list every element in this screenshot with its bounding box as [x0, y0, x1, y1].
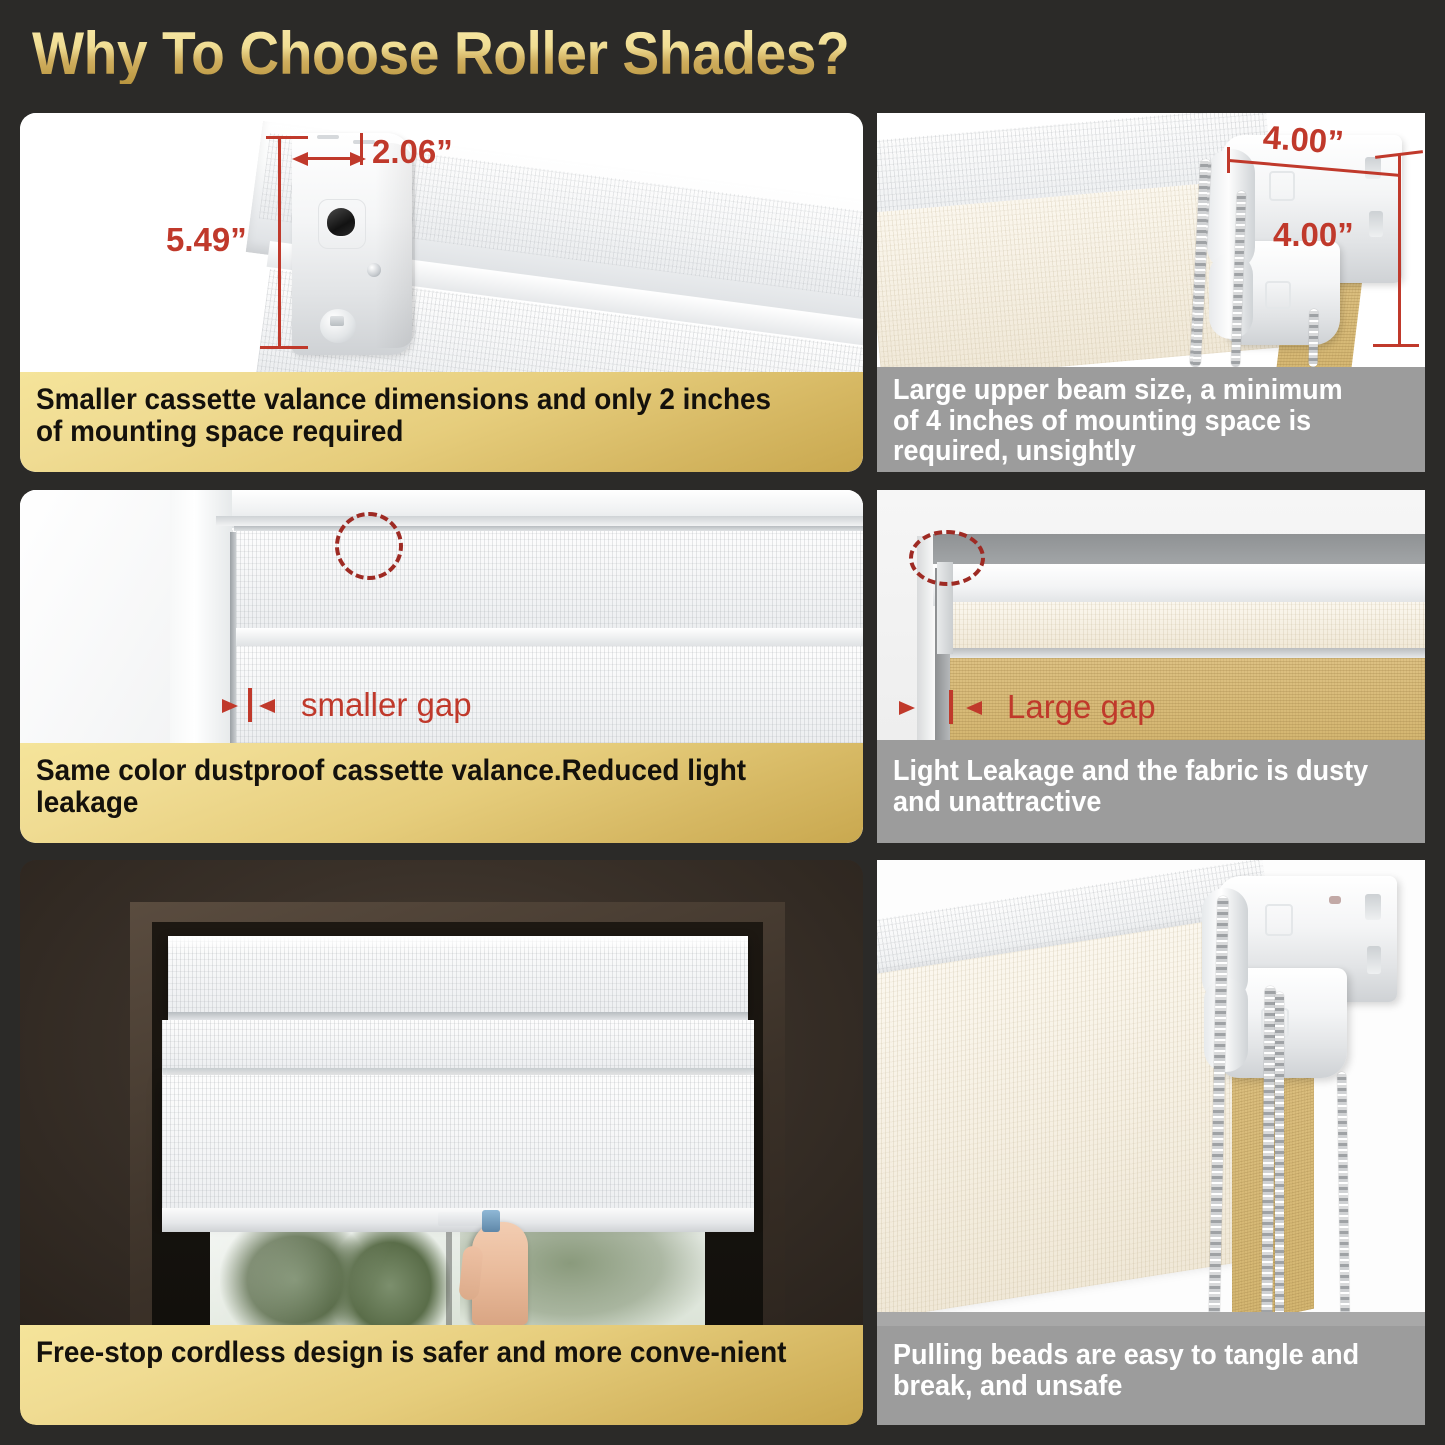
window-frame-bevel: [216, 516, 863, 526]
roller-tube: [933, 564, 1425, 606]
height-dim-label: 5.49”: [166, 223, 247, 256]
gap-callout-label: smaller gap: [301, 688, 472, 721]
end-cap-port-ring: [318, 199, 366, 249]
bracket-slot-b: [1367, 946, 1381, 974]
shade-fabric-main: [162, 1075, 754, 1215]
panel-1-caption-text: Smaller cassette valance dimensions and …: [36, 384, 790, 448]
panel-2-caption-text: Large upper beam size, a minimum of 4 in…: [893, 375, 1373, 467]
panel-1-cassette-dimensions: 2.06” 5.49” Smaller cassette valance dim…: [20, 113, 863, 472]
bracket-screw-hole: [1329, 896, 1341, 904]
beam-height-tick-bottom: [1373, 344, 1419, 347]
beam-height-dim-line: [1398, 155, 1401, 347]
panel-5-caption: Free-stop cordless design is safer and m…: [20, 1325, 863, 1425]
gap-marker-line: [248, 688, 252, 722]
height-dim-tick-top: [266, 136, 308, 139]
end-cap-shadow: [375, 143, 415, 348]
panel-3-dustproof-valance: smaller gap Same color dustproof cassett…: [20, 490, 863, 843]
panel-4-light-leakage: Large gap Light Leakage and the fabric i…: [877, 490, 1425, 843]
upper-beam-dark: [933, 534, 1425, 566]
panel-4-photo: Large gap: [877, 490, 1425, 740]
cream-fabric-band: [935, 602, 1425, 650]
panel-6-photo: [877, 860, 1425, 1326]
bracket-emboss-lower: [1265, 281, 1291, 309]
cassette-valance-lip: [232, 628, 863, 646]
panel-6-caption-text: Pulling beads are easy to tangle and bre…: [893, 1340, 1373, 1401]
height-dim-line: [278, 136, 281, 349]
panel-4-caption-text: Light Leakage and the fabric is dusty an…: [893, 756, 1373, 817]
bead-chain-rear: [1337, 1072, 1350, 1326]
base-floor-strip: [877, 1312, 1425, 1326]
width-dim-arrow-right: [350, 152, 366, 166]
hand-grip-tool: [482, 1210, 500, 1232]
panel-3-caption-text: Same color dustproof cassette valance.Re…: [36, 755, 790, 819]
bracket-slot-b: [1369, 211, 1383, 237]
gap-callout-label: Large gap: [1007, 690, 1156, 723]
bead-chain-inner: [1275, 992, 1284, 1326]
panel-2-photo: 4.00” 4.00”: [877, 113, 1425, 367]
gap-arrow-right: [259, 699, 275, 713]
panel-1-photo: 2.06” 5.49”: [20, 113, 863, 381]
panel-6-pulling-beads: Pulling beads are easy to tangle and bre…: [877, 860, 1425, 1425]
gap-marker-line: [949, 690, 953, 724]
gap-arrow-left: [222, 699, 238, 713]
roller-end-disc-lower: [1209, 253, 1253, 339]
panel-3-caption: Same color dustproof cassette valance.Re…: [20, 743, 863, 843]
cassette-valance-face: [232, 530, 863, 630]
width-dim-label: 2.06”: [372, 135, 453, 168]
shade-bottom-tab: [438, 1212, 486, 1226]
cream-fabric-sheet: [877, 913, 1257, 1326]
beam-height-label: 4.00”: [1273, 218, 1354, 251]
panel-4-caption: Light Leakage and the fabric is dusty an…: [877, 740, 1425, 843]
highlight-circle-icon: [909, 530, 985, 586]
bracket-emboss-upper: [1269, 171, 1295, 201]
width-dim-arrow-left: [292, 152, 308, 166]
gap-arrow-right: [966, 701, 982, 715]
bracket-slot-a: [1365, 894, 1381, 920]
panel-5-photo: [20, 860, 863, 1325]
valance-top-seam: [234, 526, 863, 531]
bracket-emboss-upper: [1265, 904, 1293, 936]
beam-width-label: 4.00”: [1262, 120, 1345, 159]
panel-2-caption: Large upper beam size, a minimum of 4 in…: [877, 367, 1425, 472]
title-bar: Why To Choose Roller Shades?: [0, 0, 1445, 100]
gap-arrow-left: [899, 701, 915, 715]
panel-6-caption: Pulling beads are easy to tangle and bre…: [877, 1326, 1425, 1425]
valance-secondary-rail-edge: [162, 1068, 754, 1075]
bracket-slot-a: [1365, 157, 1381, 179]
wall-surface: [20, 490, 195, 743]
panel-5-caption-text: Free-stop cordless design is safer and m…: [36, 1337, 790, 1369]
valance-secondary-rail: [162, 1020, 754, 1072]
panel-2-large-beam: 4.00” 4.00” Large upper beam size, a min…: [877, 113, 1425, 472]
end-cap-top-tab-a: [317, 135, 339, 139]
width-dim-tick-right: [360, 133, 363, 165]
highlight-circle-icon: [335, 512, 403, 580]
fabric-band-shadow: [935, 648, 1425, 658]
page-title: Why To Choose Roller Shades?: [32, 24, 849, 84]
panel-1-caption: Smaller cassette valance dimensions and …: [20, 372, 863, 472]
valance-head-highlight: [168, 936, 748, 952]
end-cap-knob-slot: [330, 316, 344, 326]
end-cap-knob: [320, 309, 356, 343]
panel-3-photo: smaller gap: [20, 490, 863, 743]
height-dim-tick-bottom: [260, 346, 308, 349]
end-cap-screw: [367, 263, 381, 277]
panel-5-cordless-design: Free-stop cordless design is safer and m…: [20, 860, 863, 1425]
beam-width-tick-left: [1227, 147, 1230, 173]
bead-chain-tail: [1308, 309, 1318, 367]
